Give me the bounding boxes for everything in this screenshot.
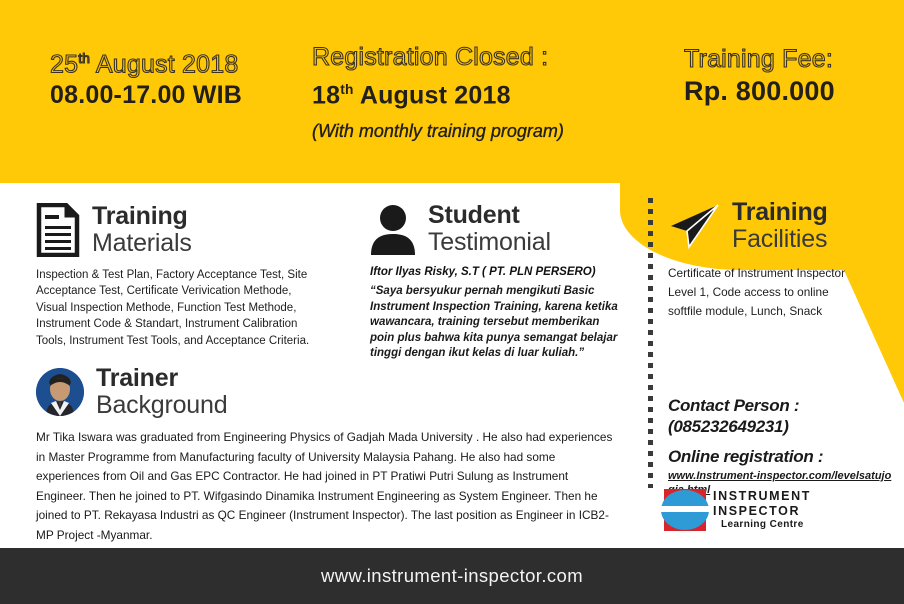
company-logo: INSTRUMENT INSPECTOR Learning Centre [664, 489, 811, 531]
training-facilities-title-line2: Facilities [732, 227, 828, 252]
contact-block: Contact Person : (085232649231) Online r… [668, 395, 898, 497]
header-date-column: 25th August 2018 08.00-17.00 WIB [50, 44, 242, 111]
document-icon [36, 203, 80, 257]
registration-day-suffix: th [340, 82, 353, 97]
training-fee-amount: Rp. 800.000 [684, 75, 835, 108]
training-date-month: August 2018 [90, 50, 238, 78]
testimonial-quote: “Saya bersyukur pernah mengikuti Basic I… [370, 284, 622, 362]
training-facilities-header: Training Facilities [668, 200, 898, 252]
footer-bar: www.instrument-inspector.com [0, 548, 904, 604]
training-date: 25th August 2018 [50, 44, 242, 79]
training-materials-body: Inspection & Test Plan, Factory Acceptan… [36, 267, 316, 349]
section-student-testimonial: Student Testimonial Iftor Ilyas Risky, S… [370, 203, 630, 362]
training-materials-header: Training Materials [36, 203, 326, 257]
trainer-avatar [36, 368, 84, 416]
logo-line-3: Learning Centre [721, 520, 811, 530]
training-materials-title-line2: Materials [92, 231, 192, 256]
contact-person-label: Contact Person : [668, 395, 898, 416]
person-icon [370, 203, 416, 255]
section-trainer-background: Trainer Background Mr Tika Iswara was gr… [36, 366, 636, 545]
training-date-suffix: th [78, 51, 90, 66]
vertical-dashed-divider [648, 198, 653, 488]
section-training-materials: Training Materials Inspection & Test Pla… [36, 203, 326, 349]
registration-note: (With monthly training program) [312, 119, 564, 143]
header-registration-column: Registration Closed : 18th August 2018 (… [312, 42, 564, 143]
trainer-background-title-line1: Trainer [96, 366, 227, 391]
registration-day: 18 [312, 81, 340, 109]
training-facilities-title-line1: Training [732, 200, 828, 225]
header-fee-column: Training Fee: Rp. 800.000 [684, 44, 835, 108]
logo-wordmark: INSTRUMENT INSPECTOR Learning Centre [713, 490, 811, 530]
logo-bar-shape [661, 506, 709, 512]
student-testimonial-title: Student Testimonial [428, 203, 551, 255]
trainer-background-body: Mr Tika Iswara was graduated from Engine… [36, 428, 614, 545]
paper-plane-icon [668, 202, 720, 250]
training-materials-title: Training Materials [92, 204, 192, 256]
training-fee-label: Training Fee: [684, 44, 835, 74]
footer-website-url[interactable]: www.instrument-inspector.com [321, 565, 583, 587]
logo-line-1: INSTRUMENT [713, 490, 811, 503]
training-date-day: 25 [50, 50, 78, 78]
training-facilities-title: Training Facilities [732, 200, 828, 252]
registration-month: August 2018 [354, 81, 511, 109]
trainer-background-title-line2: Background [96, 393, 227, 418]
student-testimonial-title-line2: Testimonial [428, 230, 551, 255]
section-training-facilities: Training Facilities Certificate of Instr… [668, 200, 898, 321]
student-testimonial-title-line1: Student [428, 203, 551, 228]
registration-closed-label: Registration Closed : [312, 42, 564, 73]
student-testimonial-header: Student Testimonial [370, 203, 630, 255]
contact-phone-number[interactable]: (085232649231) [668, 416, 898, 437]
poster-root: 25th August 2018 08.00-17.00 WIB Registr… [0, 0, 904, 604]
training-materials-title-line1: Training [92, 204, 192, 229]
trainer-background-title: Trainer Background [96, 366, 227, 418]
training-time: 08.00-17.00 WIB [50, 80, 242, 111]
online-registration-label: Online registration : [668, 446, 898, 467]
registration-closed-date: 18th August 2018 [312, 74, 564, 111]
trainer-background-header: Trainer Background [36, 366, 636, 418]
testimonial-author: Iftor Ilyas Risky, S.T ( PT. PLN PERSERO… [370, 265, 630, 280]
logo-mark-icon [664, 489, 706, 531]
training-facilities-body: Certificate of Instrument Inspector Leve… [668, 264, 848, 321]
logo-line-2: INSPECTOR [713, 505, 811, 518]
